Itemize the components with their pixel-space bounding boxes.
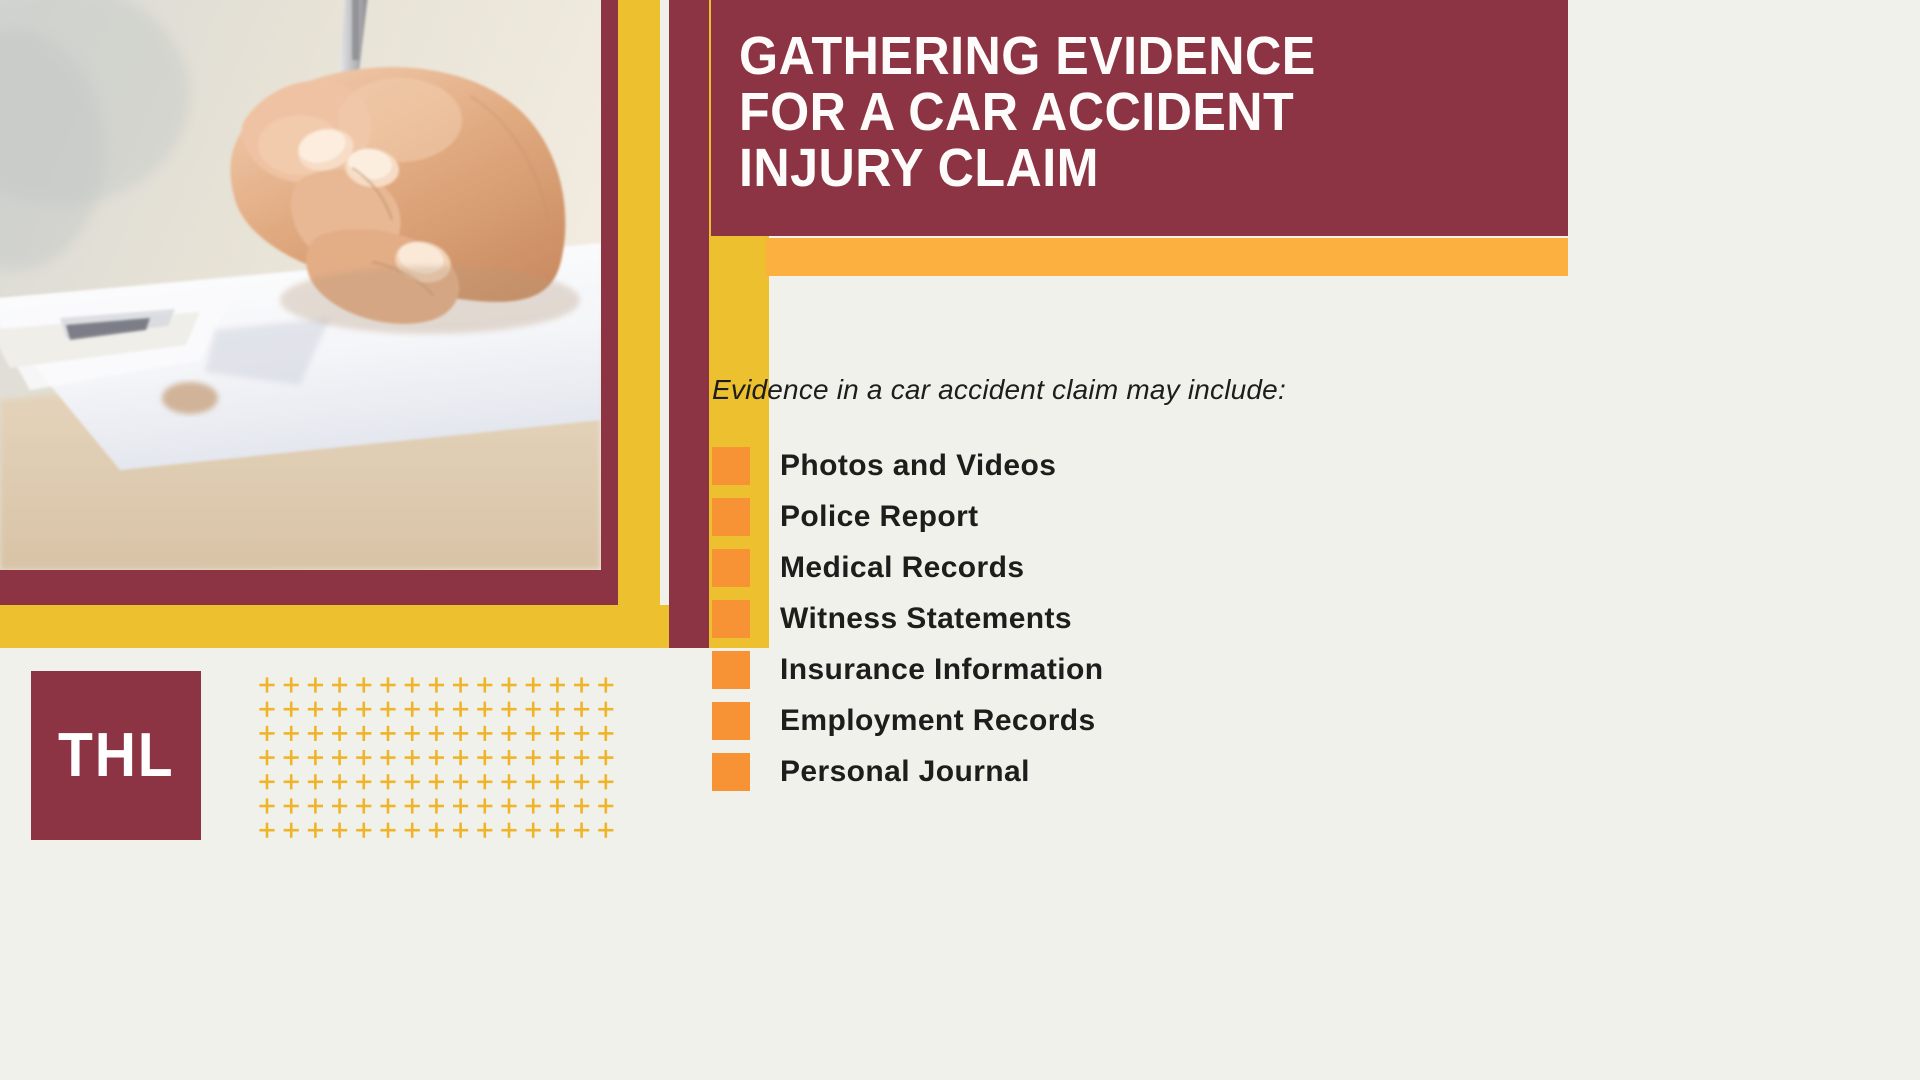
accent-bar-orange [766,238,1568,276]
subtitle: Evidence in a car accident claim may inc… [712,374,1286,406]
thl-logo: THL [31,671,201,840]
list-item-label: Police Report [780,500,979,534]
list-item-label: Insurance Information [780,653,1103,687]
square-bullet-icon [712,651,750,689]
title-block: GATHERING EVIDENCE FOR A CAR ACCIDENT IN… [711,0,1568,236]
square-bullet-icon [712,549,750,587]
list-item: Photos and Videos [712,440,1532,491]
square-bullet-icon [712,600,750,638]
list-item: Insurance Information [712,644,1532,695]
list-item-label: Personal Journal [780,755,1030,789]
title-line-3: INJURY CLAIM [739,140,1473,196]
list-item-label: Employment Records [780,704,1096,738]
logo-text: THL [58,720,174,791]
hand-writing-photo [0,0,601,570]
square-bullet-icon [712,753,750,791]
evidence-list: Photos and Videos Police Report Medical … [712,440,1532,797]
list-item-label: Photos and Videos [780,449,1056,483]
list-item: Employment Records [712,695,1532,746]
list-item: Witness Statements [712,593,1532,644]
title-line-2: FOR A CAR ACCIDENT [739,84,1473,140]
list-item-label: Witness Statements [780,602,1072,636]
square-bullet-icon [712,498,750,536]
title-line-1: GATHERING EVIDENCE [739,28,1473,84]
square-bullet-icon [712,702,750,740]
photo-frame-step [618,605,669,648]
list-item: Police Report [712,491,1532,542]
square-bullet-icon [712,447,750,485]
infographic-canvas: GATHERING EVIDENCE FOR A CAR ACCIDENT IN… [0,0,1568,880]
list-item-label: Medical Records [780,551,1024,585]
list-item: Medical Records [712,542,1532,593]
vertical-band-maroon [669,0,709,648]
plus-pattern-decor [258,676,620,846]
list-item: Personal Journal [712,746,1532,797]
